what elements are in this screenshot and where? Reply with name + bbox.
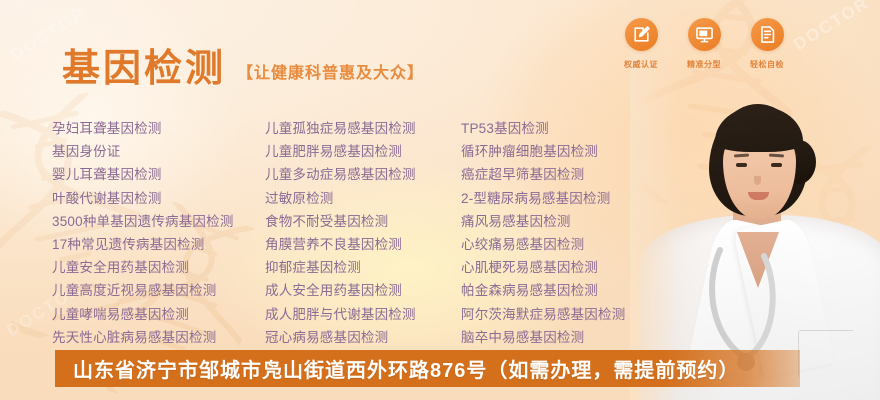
list-item[interactable]: 成人肥胖与代谢基因检测 — [265, 303, 461, 326]
list-item[interactable]: 婴儿耳聋基因检测 — [52, 163, 265, 186]
monitor-icon — [688, 18, 721, 51]
list-item[interactable]: 痛风易感基因检测 — [461, 210, 691, 233]
list-item[interactable]: 儿童多动症易感基因检测 — [265, 163, 461, 186]
service-column-1: 孕妇耳聋基因检测 基因身份证 婴儿耳聋基因检测 叶酸代谢基因检测 3500种单基… — [52, 117, 265, 349]
list-item[interactable]: 食物不耐受基因检测 — [265, 210, 461, 233]
list-item[interactable]: 成人安全用药基因检测 — [265, 279, 461, 302]
badge-precise-typing[interactable]: 精准分型 — [684, 18, 724, 70]
list-item[interactable]: TP53基因检测 — [461, 117, 691, 140]
badge-label: 轻松自检 — [750, 59, 784, 70]
list-item[interactable]: 儿童孤独症易感基因检测 — [265, 117, 461, 140]
badge-label: 精准分型 — [687, 59, 721, 70]
list-item[interactable]: 循环肿瘤细胞基因检测 — [461, 140, 691, 163]
list-item[interactable]: 冠心病易感基因检测 — [265, 326, 461, 349]
list-item[interactable]: 儿童高度近视易感基因检测 — [52, 279, 265, 302]
list-item[interactable]: 3500种单基因遗传病基因检测 — [52, 210, 265, 233]
genetic-testing-poster: DOCTOR DOCTOR DOCTOR 基因检测 【让健康 — [0, 0, 880, 400]
list-item[interactable]: 阿尔茨海默症易感基因检测 — [461, 303, 691, 326]
list-item[interactable]: 脑卒中易感基因检测 — [461, 326, 691, 349]
service-column-2: 儿童孤独症易感基因检测 儿童肥胖易感基因检测 儿童多动症易感基因检测 过敏原检测… — [265, 117, 461, 349]
list-item[interactable]: 心肌梗死易感基因检测 — [461, 256, 691, 279]
list-item[interactable]: 孕妇耳聋基因检测 — [52, 117, 265, 140]
badge-easy-self-check[interactable]: 轻松自检 — [747, 18, 787, 70]
poster-title-row: 基因检测 【让健康科普惠及大众】 — [62, 49, 424, 87]
list-item[interactable]: 17种常见遗传病基因检测 — [52, 233, 265, 256]
list-item[interactable]: 过敏原检测 — [265, 187, 461, 210]
address-text: 山东省济宁市邹城市凫山街道西外环路876号（如需办理，需提前预约） — [55, 354, 739, 383]
service-column-3: TP53基因检测 循环肿瘤细胞基因检测 癌症超早筛基因检测 2-型糖尿病易感基因… — [461, 117, 691, 349]
list-item[interactable]: 2-型糖尿病易感基因检测 — [461, 187, 691, 210]
badge-label: 权威认证 — [624, 59, 658, 70]
list-item[interactable]: 儿童哮喘易感基因检测 — [52, 303, 265, 326]
address-bar: 山东省济宁市邹城市凫山街道西外环路876号（如需办理，需提前预约） — [55, 350, 800, 387]
list-item[interactable]: 心绞痛易感基因检测 — [461, 233, 691, 256]
list-item[interactable]: 儿童肥胖易感基因检测 — [265, 140, 461, 163]
list-item[interactable]: 癌症超早筛基因检测 — [461, 163, 691, 186]
feature-badges: 权威认证 精准分型 轻松自检 — [621, 18, 787, 70]
list-item[interactable]: 角膜营养不良基因检测 — [265, 233, 461, 256]
list-item[interactable]: 帕金森病易感基因检测 — [461, 279, 691, 302]
page-title: 基因检测 — [62, 49, 226, 87]
page-subtitle: 【让健康科普惠及大众】 — [237, 59, 424, 83]
list-item[interactable]: 抑郁症基因检测 — [265, 256, 461, 279]
list-item[interactable]: 先天性心脏病易感基因检测 — [52, 326, 265, 349]
pencil-square-icon — [625, 18, 658, 51]
list-item[interactable]: 基因身份证 — [52, 140, 265, 163]
service-list: 孕妇耳聋基因检测 基因身份证 婴儿耳聋基因检测 叶酸代谢基因检测 3500种单基… — [52, 117, 691, 349]
list-item[interactable]: 叶酸代谢基因检测 — [52, 187, 265, 210]
list-item[interactable]: 儿童安全用药基因检测 — [52, 256, 265, 279]
badge-authority-certification[interactable]: 权威认证 — [621, 18, 661, 70]
document-icon — [751, 18, 784, 51]
